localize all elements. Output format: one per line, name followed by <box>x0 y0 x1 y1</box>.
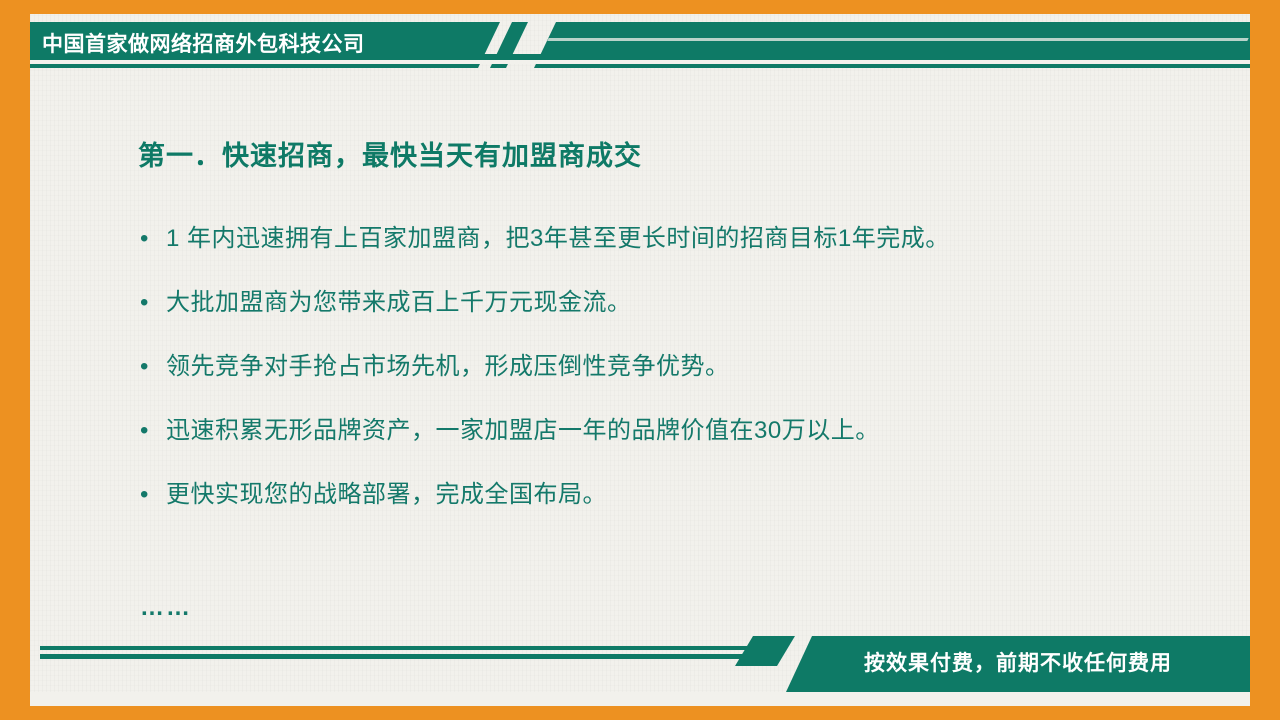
list-item: • 更快实现您的战略部署，完成全国布局。 <box>140 480 1220 510</box>
bullet-text: 更快实现您的战略部署，完成全国布局。 <box>166 480 1220 510</box>
bullet-dot-icon: • <box>140 224 166 254</box>
footer-rule-bottom <box>40 654 752 659</box>
list-item: • 1 年内迅速拥有上百家加盟商，把3年甚至更长时间的招商目标1年完成。 <box>140 224 1220 254</box>
slide-header: 中国首家做网络招商外包科技公司 <box>0 14 1280 74</box>
bullet-text: 迅速积累无形品牌资产，一家加盟店一年的品牌价值在30万以上。 <box>166 416 1220 446</box>
bullet-text: 1 年内迅速拥有上百家加盟商，把3年甚至更长时间的招商目标1年完成。 <box>166 224 1220 254</box>
bullet-text: 领先竞争对手抢占市场先机，形成压倒性竞争优势。 <box>166 352 1220 382</box>
footer-rule-top <box>40 646 760 650</box>
list-item: • 大批加盟商为您带来成百上千万元现金流。 <box>140 288 1220 318</box>
bullet-dot-icon: • <box>140 480 166 510</box>
header-highlight-line <box>547 38 1248 41</box>
bullet-dot-icon: • <box>140 416 166 446</box>
slide-content: 第一．快速招商，最快当天有加盟商成交 • 1 年内迅速拥有上百家加盟商，把3年甚… <box>30 96 1250 632</box>
slide-title: 第一．快速招商，最快当天有加盟商成交 <box>138 134 642 173</box>
bullet-dot-icon: • <box>140 352 166 382</box>
bullet-text: 大批加盟商为您带来成百上千万元现金流。 <box>166 288 1220 318</box>
bullet-list: • 1 年内迅速拥有上百家加盟商，把3年甚至更长时间的招商目标1年完成。 • 大… <box>140 224 1220 544</box>
slide-root: 中国首家做网络招商外包科技公司 第一．快速招商，最快当天有加盟商成交 • 1 年… <box>0 0 1280 720</box>
bullet-dot-icon: • <box>140 288 166 318</box>
list-item: • 领先竞争对手抢占市场先机，形成压倒性竞争优势。 <box>140 352 1220 382</box>
slide-footer: 按效果付费，前期不收任何费用 <box>0 640 1280 720</box>
header-underline-gap <box>30 60 1250 64</box>
footer-text: 按效果付费，前期不收任何费用 <box>786 636 1250 692</box>
footer-paper-edge <box>30 692 1250 706</box>
list-item: • 迅速积累无形品牌资产，一家加盟店一年的品牌价值在30万以上。 <box>140 416 1220 446</box>
ellipsis-text: …… <box>140 594 192 622</box>
